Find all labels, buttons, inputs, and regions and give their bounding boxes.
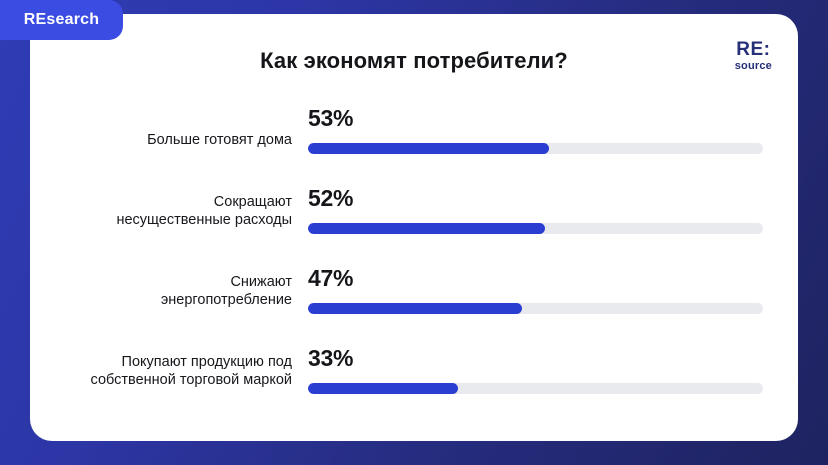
bar-label: Покупают продукцию под собственной торго… bbox=[32, 353, 292, 390]
bar-label: Снижают энергопотребление bbox=[32, 273, 292, 310]
bar-track bbox=[308, 383, 763, 394]
infographic-canvas: Как экономят потребители? Больше готовят… bbox=[0, 0, 828, 465]
bar-fill bbox=[308, 143, 549, 154]
bar-track bbox=[308, 303, 763, 314]
content-card: Как экономят потребители? Больше готовят… bbox=[30, 14, 798, 441]
bar-value: 47% bbox=[308, 267, 353, 290]
bar-value: 52% bbox=[308, 187, 353, 210]
bar-chart: Больше готовят дома 53% Сокращают несуще… bbox=[30, 96, 798, 416]
bar-label: Сокращают несущественные расходы bbox=[32, 193, 292, 230]
chart-row: Больше готовят дома 53% bbox=[30, 96, 798, 176]
bar-value: 53% bbox=[308, 107, 353, 130]
research-badge-label: REsearch bbox=[24, 12, 99, 28]
chart-row: Сокращают несущественные расходы 52% bbox=[30, 176, 798, 256]
bar-label: Больше готовят дома bbox=[32, 131, 292, 150]
research-badge: REsearch bbox=[0, 0, 123, 40]
page-title: Как экономят потребители? bbox=[30, 48, 798, 74]
logo-sub-text: source bbox=[735, 61, 772, 72]
chart-row: Снижают энергопотребление 47% bbox=[30, 256, 798, 336]
bar-value: 33% bbox=[308, 347, 353, 370]
bar-fill bbox=[308, 303, 522, 314]
bar-track bbox=[308, 223, 763, 234]
bar-fill bbox=[308, 383, 458, 394]
resource-logo: RE: source bbox=[735, 40, 772, 72]
chart-row: Покупают продукцию под собственной торго… bbox=[30, 336, 798, 416]
bar-fill bbox=[308, 223, 545, 234]
logo-main-text: RE: bbox=[735, 40, 772, 59]
bar-track bbox=[308, 143, 763, 154]
